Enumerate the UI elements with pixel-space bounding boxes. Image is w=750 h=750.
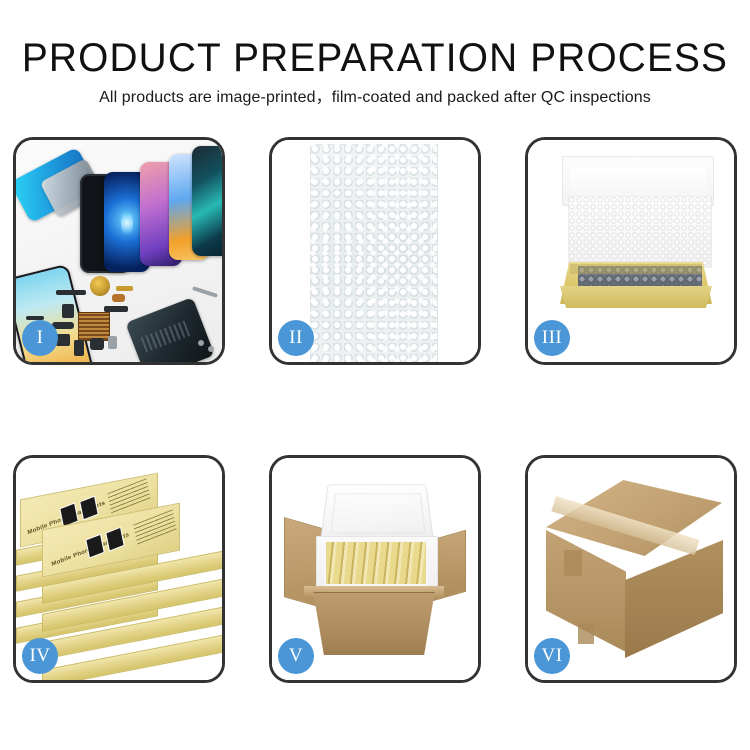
page-title: PRODUCT PREPARATION PROCESS <box>11 0 739 80</box>
box-screen-thumbnail <box>79 496 99 521</box>
chip-array-part <box>78 312 110 341</box>
ribbon-cable-part <box>104 306 128 312</box>
header: PRODUCT PREPARATION PROCESS All products… <box>0 0 750 108</box>
process-step-1[interactable]: I <box>13 137 225 365</box>
page-subtitle: All products are image-printed，film-coat… <box>0 80 750 108</box>
metal-bracket-part <box>108 336 117 349</box>
camera-module-part <box>56 334 70 346</box>
sim-tray-part <box>74 340 84 356</box>
step-4-badge: IV <box>22 638 58 674</box>
step-6-badge: VI <box>534 638 570 674</box>
packed-yellow-boxes <box>326 542 426 584</box>
carton-flap-tab-lower <box>578 624 594 644</box>
step-5-badge: V <box>278 638 314 674</box>
screw-part <box>208 346 214 352</box>
copper-contact-part <box>112 294 125 302</box>
step-1-badge: I <box>22 320 58 356</box>
small-ic-part <box>62 304 74 318</box>
process-step-4[interactable]: Mobile Phone Spare Parts Mobile Phone Sp… <box>13 455 225 683</box>
screw-part <box>198 340 204 346</box>
box-screen-thumbnail <box>105 527 125 552</box>
box-spec-lines <box>133 509 176 545</box>
teal-ribbon-phone <box>192 146 222 256</box>
carton-body <box>308 592 440 655</box>
process-step-5[interactable]: V <box>269 455 481 683</box>
speaker-module-icon <box>90 276 110 296</box>
infographic-page: PRODUCT PREPARATION PROCESS All products… <box>0 0 750 750</box>
step-3-badge: III <box>534 320 570 356</box>
bubble-wrap-bag <box>310 144 438 362</box>
flex-cable-part <box>56 290 86 295</box>
box-lid-flap <box>570 168 706 196</box>
carton-flap-tab <box>564 550 582 576</box>
process-step-grid: I II <box>13 137 737 683</box>
process-step-2[interactable]: II <box>269 137 481 365</box>
gold-connector-part <box>116 286 133 291</box>
process-step-3[interactable]: III <box>525 137 737 365</box>
tray-inner-shadow <box>570 264 702 274</box>
button-part <box>90 338 104 350</box>
white-foam-sheet <box>568 196 712 268</box>
yellow-tray-front-wall <box>560 286 712 308</box>
step-2-badge: II <box>278 320 314 356</box>
box-screen-thumbnail <box>85 534 105 559</box>
process-step-6[interactable]: VI <box>525 455 737 683</box>
